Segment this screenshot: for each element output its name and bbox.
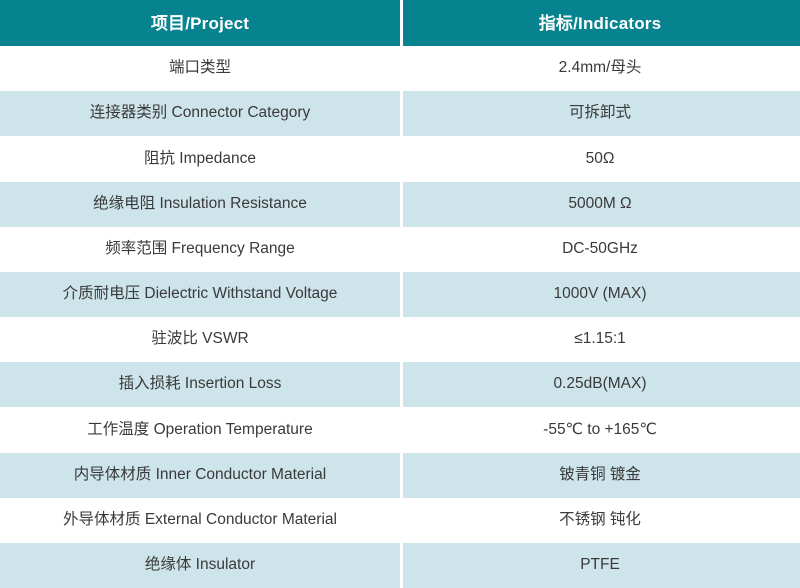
specification-table: 项目/Project 指标/Indicators 端口类型2.4mm/母头连接器… [0,0,800,588]
table-row: 频率范围 Frequency RangeDC-50GHz [0,227,800,272]
cell-project: 介质耐电压 Dielectric Withstand Voltage [0,272,400,317]
table-row: 阻抗 Impedance50Ω [0,136,800,181]
cell-project: 驻波比 VSWR [0,317,400,362]
table-row: 端口类型2.4mm/母头 [0,46,800,91]
table-row: 介质耐电压 Dielectric Withstand Voltage1000V … [0,272,800,317]
cell-indicator: 2.4mm/母头 [400,46,800,91]
table-header-row: 项目/Project 指标/Indicators [0,0,800,46]
cell-project: 连接器类别 Connector Category [0,91,400,136]
cell-project: 端口类型 [0,46,400,91]
cell-project: 绝缘电阻 Insulation Resistance [0,182,400,227]
cell-indicator: PTFE [400,543,800,588]
cell-indicator: ≤1.15:1 [400,317,800,362]
table-row: 绝缘电阻 Insulation Resistance5000M Ω [0,182,800,227]
cell-indicator: DC-50GHz [400,227,800,272]
table-row: 工作温度 Operation Temperature-55℃ to +165℃ [0,407,800,452]
table-row: 驻波比 VSWR≤1.15:1 [0,317,800,362]
cell-project: 工作温度 Operation Temperature [0,407,400,452]
cell-project: 频率范围 Frequency Range [0,227,400,272]
table-row: 绝缘体 InsulatorPTFE [0,543,800,588]
cell-indicator: 不锈钢 钝化 [400,498,800,543]
cell-project: 插入损耗 Insertion Loss [0,362,400,407]
cell-indicator: 5000M Ω [400,182,800,227]
cell-indicator: 1000V (MAX) [400,272,800,317]
cell-indicator: 可拆卸式 [400,91,800,136]
cell-indicator: 0.25dB(MAX) [400,362,800,407]
table-row: 连接器类别 Connector Category可拆卸式 [0,91,800,136]
cell-indicator: 50Ω [400,136,800,181]
cell-project: 内导体材质 Inner Conductor Material [0,453,400,498]
cell-indicator: 铍青铜 镀金 [400,453,800,498]
column-header-indicators: 指标/Indicators [400,0,800,46]
cell-project: 阻抗 Impedance [0,136,400,181]
cell-project: 绝缘体 Insulator [0,543,400,588]
table-body: 端口类型2.4mm/母头连接器类别 Connector Category可拆卸式… [0,46,800,588]
column-header-project: 项目/Project [0,0,400,46]
table-row: 外导体材质 External Conductor Material不锈钢 钝化 [0,498,800,543]
table-row: 插入损耗 Insertion Loss0.25dB(MAX) [0,362,800,407]
table-row: 内导体材质 Inner Conductor Material铍青铜 镀金 [0,453,800,498]
cell-project: 外导体材质 External Conductor Material [0,498,400,543]
cell-indicator: -55℃ to +165℃ [400,407,800,452]
